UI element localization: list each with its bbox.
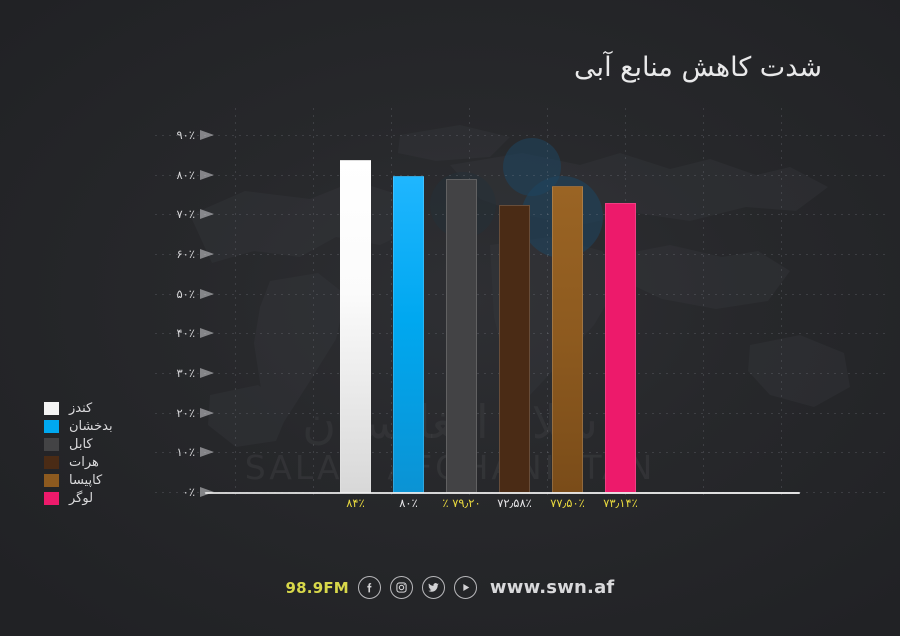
instagram-icon[interactable] [390,576,413,599]
legend-label: کاپیسا [69,474,102,487]
legend-item-2[interactable]: کابل [44,436,113,452]
legend-swatch [44,402,59,415]
legend-swatch [44,492,59,505]
bar-0 [340,160,371,493]
infographic-canvas: شدت کاهش منابع آبی سلام افغانستان SALAM … [0,0,900,636]
facebook-icon[interactable] [358,576,381,599]
bar-1 [393,176,424,493]
legend-label: کابل [69,438,93,451]
chart-legend: کندزبدخشانکابلهراتکاپیسالوگر [44,400,113,508]
play-icon[interactable] [454,576,477,599]
twitter-icon[interactable] [422,576,445,599]
legend-label: بدخشان [69,420,113,433]
legend-item-5[interactable]: لوگر [44,490,113,506]
website-url[interactable]: www.swn.af [490,577,615,598]
y-axis-tick-label: ۶۰٪ [176,247,195,261]
bar-3 [499,205,530,493]
y-axis-tick-label: ۷۰٪ [176,207,195,221]
legend-label: لوگر [69,492,93,505]
bar-5 [605,203,636,493]
page-title: شدت کاهش منابع آبی [574,52,822,83]
bar-chart-plot [205,105,800,493]
footer-bar: 98.9FM www.swn.af [0,576,900,599]
legend-label: کندز [69,402,92,415]
y-axis-tick-label: ۴۰٪ [176,326,195,340]
legend-item-1[interactable]: بدخشان [44,418,113,434]
legend-swatch [44,438,59,451]
legend-swatch [44,474,59,487]
legend-item-4[interactable]: کاپیسا [44,472,113,488]
bar-2 [446,179,477,493]
y-axis-tick-label: ۵۰٪ [176,287,195,301]
y-axis-tick-label: ۳۰٪ [176,366,195,380]
bar-4 [552,186,583,493]
y-axis-tick-label: ۲۰٪ [176,406,195,420]
bar-value-label-5: ۷۳٫۱۴٪ [586,496,656,512]
y-axis-tick-label: ۰٪ [183,485,195,499]
legend-label: هرات [69,456,99,469]
legend-item-0[interactable]: کندز [44,400,113,416]
legend-swatch [44,456,59,469]
y-axis-tick-label: ۱۰٪ [176,445,195,459]
x-axis-line [205,492,800,494]
radio-frequency: 98.9FM [286,579,349,597]
y-axis-tick-label: ۸۰٪ [176,168,195,182]
legend-item-3[interactable]: هرات [44,454,113,470]
legend-swatch [44,420,59,433]
y-axis-tick-label: ۹۰٪ [176,128,195,142]
